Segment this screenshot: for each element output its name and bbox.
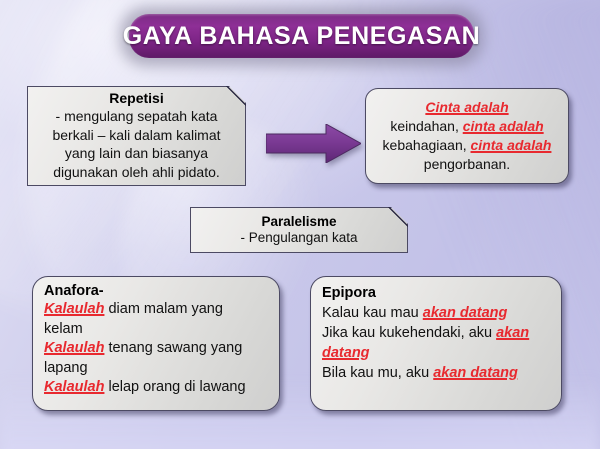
cinta-line-2: keindahan, cinta adalah: [375, 117, 559, 136]
repetisi-line-4: digunakan oleh ahli pidato.: [35, 163, 238, 182]
epipora-line-2-red: akan: [496, 325, 529, 341]
anafora-line-5: Kalaulah lelap orang di lawang: [44, 378, 271, 398]
epipora-line-4-red: akan datang: [433, 365, 518, 381]
epipora-line-3-red: datang: [322, 345, 370, 361]
cinta-line-3-red: cinta adalah: [471, 137, 552, 153]
paralelisme-heading: Paralelisme: [199, 214, 399, 229]
anafora-heading: Anafora-: [44, 283, 271, 299]
epipora-line-2: Jika kau kukehendaki, aku akan: [322, 323, 553, 343]
epipora-line-4: Bila kau mu, aku akan datang: [322, 363, 553, 383]
flow-arrow-icon: [266, 124, 361, 163]
anafora-line-1-plain: diam malam yang: [104, 301, 222, 317]
epipora-line-2-plain: Jika kau kukehendaki, aku: [322, 325, 496, 341]
epipora-line-1: Kalau kau mau akan datang: [322, 303, 553, 323]
card-anafora: Anafora- Kalaulah diam malam yang kelam …: [32, 276, 280, 411]
repetisi-line-1: - mengulang sepatah kata: [35, 107, 238, 126]
anafora-line-2: kelam: [44, 320, 271, 340]
card-paralelisme: Paralelisme - Pengulangan kata: [190, 207, 408, 253]
anafora-line-5-red: Kalaulah: [44, 379, 104, 395]
anafora-line-1-red: Kalaulah: [44, 301, 104, 317]
cinta-line-3-plain: kebahagiaan,: [383, 137, 471, 153]
card-epipora: Epipora Kalau kau mau akan datang Jika k…: [310, 276, 562, 411]
anafora-line-5-plain: lelap orang di lawang: [104, 379, 245, 395]
repetisi-line-2: berkali – kali dalam kalimat: [35, 126, 238, 145]
anafora-line-3-plain: tenang sawang yang: [104, 340, 242, 356]
slide-canvas: GAYA BAHASA PENEGASAN Repetisi - mengula…: [0, 0, 600, 449]
epipora-heading: Epipora: [322, 285, 553, 301]
anafora-line-4: lapang: [44, 359, 271, 379]
title-plate: GAYA BAHASA PENEGASAN: [129, 14, 474, 58]
paralelisme-line-1: - Pengulangan kata: [199, 229, 399, 247]
epipora-line-1-red: akan datang: [423, 305, 508, 321]
slide-title-text: GAYA BAHASA PENEGASAN: [123, 22, 481, 51]
cinta-line-4: pengorbanan.: [375, 155, 559, 174]
cinta-line-1-red: Cinta adalah: [425, 99, 508, 115]
card-cinta-adalah: Cinta adalah keindahan, cinta adalah keb…: [365, 88, 569, 184]
epipora-line-1-plain: Kalau kau mau: [322, 305, 423, 321]
repetisi-heading: Repetisi: [35, 90, 238, 106]
epipora-line-3: datang: [322, 343, 553, 363]
anafora-line-1: Kalaulah diam malam yang: [44, 300, 271, 320]
cinta-line-1: Cinta adalah: [375, 98, 559, 117]
card-repetisi: Repetisi - mengulang sepatah kata berkal…: [27, 86, 246, 186]
anafora-line-3-red: Kalaulah: [44, 340, 104, 356]
anafora-line-3: Kalaulah tenang sawang yang: [44, 339, 271, 359]
repetisi-line-3: yang lain dan biasanya: [35, 144, 238, 163]
cinta-line-3: kebahagiaan, cinta adalah: [375, 136, 559, 155]
cinta-line-2-plain: keindahan,: [390, 118, 462, 134]
epipora-line-4-plain: Bila kau mu, aku: [322, 365, 433, 381]
slide-title-banner: GAYA BAHASA PENEGASAN: [129, 14, 474, 58]
cinta-line-2-red: cinta adalah: [463, 118, 544, 134]
